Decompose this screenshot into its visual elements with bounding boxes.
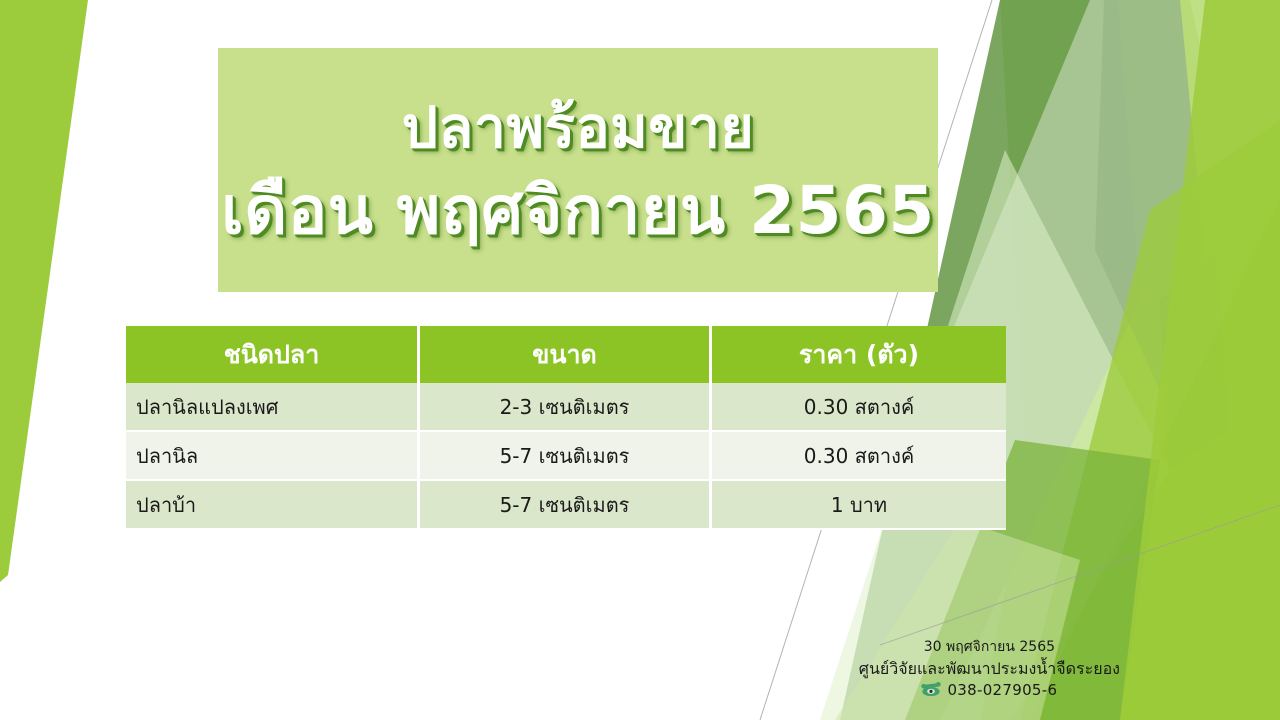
slide-title-line-1: ปลาพร้อมขาย (402, 98, 754, 158)
right-bright-wedge (980, 0, 1280, 720)
cell-size: 5-7 เซนติเมตร (420, 481, 712, 530)
cell-price: 0.30 สตางค์ (712, 432, 1006, 481)
right-deep-accent (1095, 0, 1205, 390)
table-header-row: ชนิดปลา ขนาด ราคา (ตัว) (126, 326, 1006, 383)
cell-species: ปลานิลแปลงเพศ (126, 383, 420, 432)
cell-price: 1 บาท (712, 481, 1006, 530)
table-row: ปลาบ้า 5-7 เซนติเมตร 1 บาท (126, 481, 1006, 530)
slide-title-line-2: เดือน พฤศจิกายน 2565 (221, 176, 935, 246)
footer-date: 30 พฤศจิกายน 2565 (859, 637, 1120, 657)
right-mid-triangle (1000, 0, 1280, 720)
fish-price-table: ชนิดปลา ขนาด ราคา (ตัว) ปลานิลแปลงเพศ 2-… (126, 326, 1006, 530)
table-row: ปลานิลแปลงเพศ 2-3 เซนติเมตร 0.30 สตางค์ (126, 383, 1006, 432)
cell-size: 5-7 เซนติเมตร (420, 432, 712, 481)
phone-icon (921, 681, 941, 701)
table-row: ปลานิล 5-7 เซนติเมตร 0.30 สตางค์ (126, 432, 1006, 481)
right-dark-sliver (1160, 250, 1230, 470)
slide-footer: 30 พฤศจิกายน 2565 ศูนย์วิจัยและพัฒนาประม… (859, 637, 1120, 702)
footer-organization: ศูนย์วิจัยและพัฒนาประมงน้ำจืดระยอง (859, 657, 1120, 680)
slide-title-box: ปลาพร้อมขาย เดือน พฤศจิกายน 2565 (218, 48, 938, 292)
footer-phone-number: 038-027905-6 (947, 680, 1057, 702)
presentation-slide: ปลาพร้อมขาย เดือน พฤศจิกายน 2565 ชนิดปลา… (0, 0, 1280, 720)
left-green-wedge (0, 0, 88, 582)
cell-size: 2-3 เซนติเมตร (420, 383, 712, 432)
cell-species: ปลานิล (126, 432, 420, 481)
column-header-size: ขนาด (420, 326, 712, 383)
column-header-price: ราคา (ตัว) (712, 326, 1006, 383)
footer-phone-row: 038-027905-6 (859, 680, 1120, 702)
far-right-column (1120, 0, 1280, 720)
column-header-species: ชนิดปลา (126, 326, 420, 383)
cell-species: ปลาบ้า (126, 481, 420, 530)
bright-overlay-bottom (1020, 120, 1280, 720)
cell-price: 0.30 สตางค์ (712, 383, 1006, 432)
